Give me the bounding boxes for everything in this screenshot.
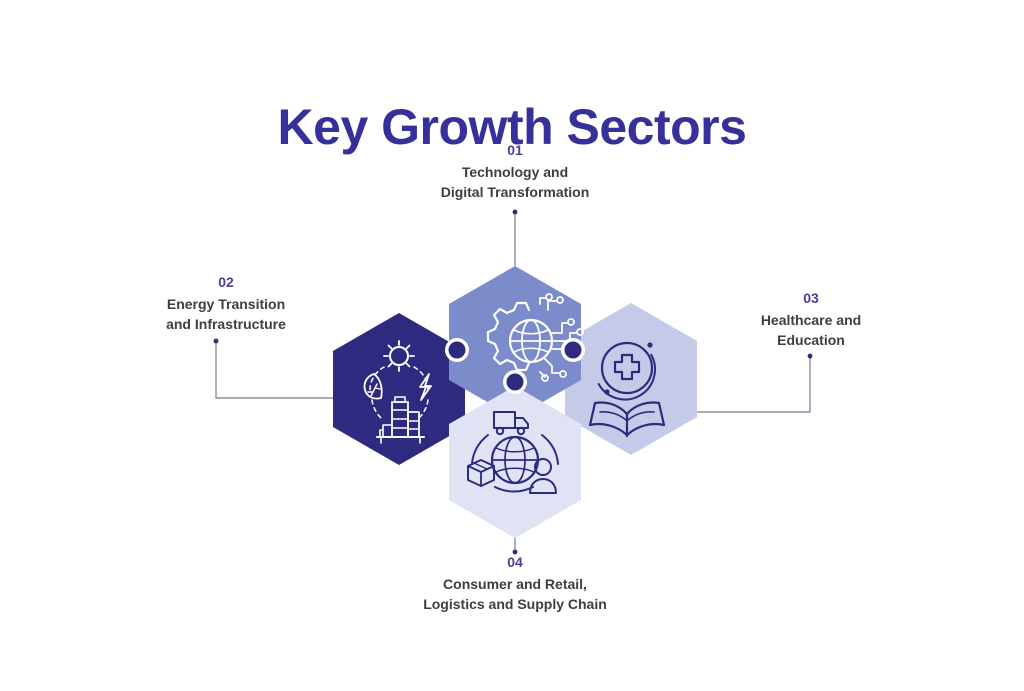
callout-03-number: 03 bbox=[706, 288, 916, 309]
node-between-01-02 bbox=[449, 342, 466, 359]
callout-01-number: 01 bbox=[386, 140, 644, 161]
callout-04-number: 04 bbox=[386, 552, 644, 573]
callout-03-label: Healthcare and Education bbox=[706, 311, 916, 351]
callout-04-label: Consumer and Retail, Logistics and Suppl… bbox=[386, 575, 644, 615]
callout-04[interactable]: 04 Consumer and Retail, Logistics and Su… bbox=[386, 552, 644, 615]
callout-03[interactable]: 03 Healthcare and Education bbox=[706, 288, 916, 351]
callout-02-label: Energy Transition and Infrastructure bbox=[118, 295, 334, 335]
hexagon-02-energy[interactable] bbox=[333, 313, 465, 465]
hexagon-03-healthcare[interactable] bbox=[565, 303, 697, 455]
callout-02-number: 02 bbox=[118, 272, 334, 293]
callout-01-label: Technology and Digital Transformation bbox=[386, 163, 644, 203]
callout-02[interactable]: 02 Energy Transition and Infrastructure bbox=[118, 272, 334, 335]
node-between-01-04 bbox=[507, 374, 524, 391]
infographic-canvas: Key Growth Sectors bbox=[0, 0, 1024, 691]
node-between-01-03 bbox=[565, 342, 582, 359]
callout-01[interactable]: 01 Technology and Digital Transformation bbox=[386, 140, 644, 203]
hexagon-04-logistics[interactable] bbox=[449, 386, 581, 538]
